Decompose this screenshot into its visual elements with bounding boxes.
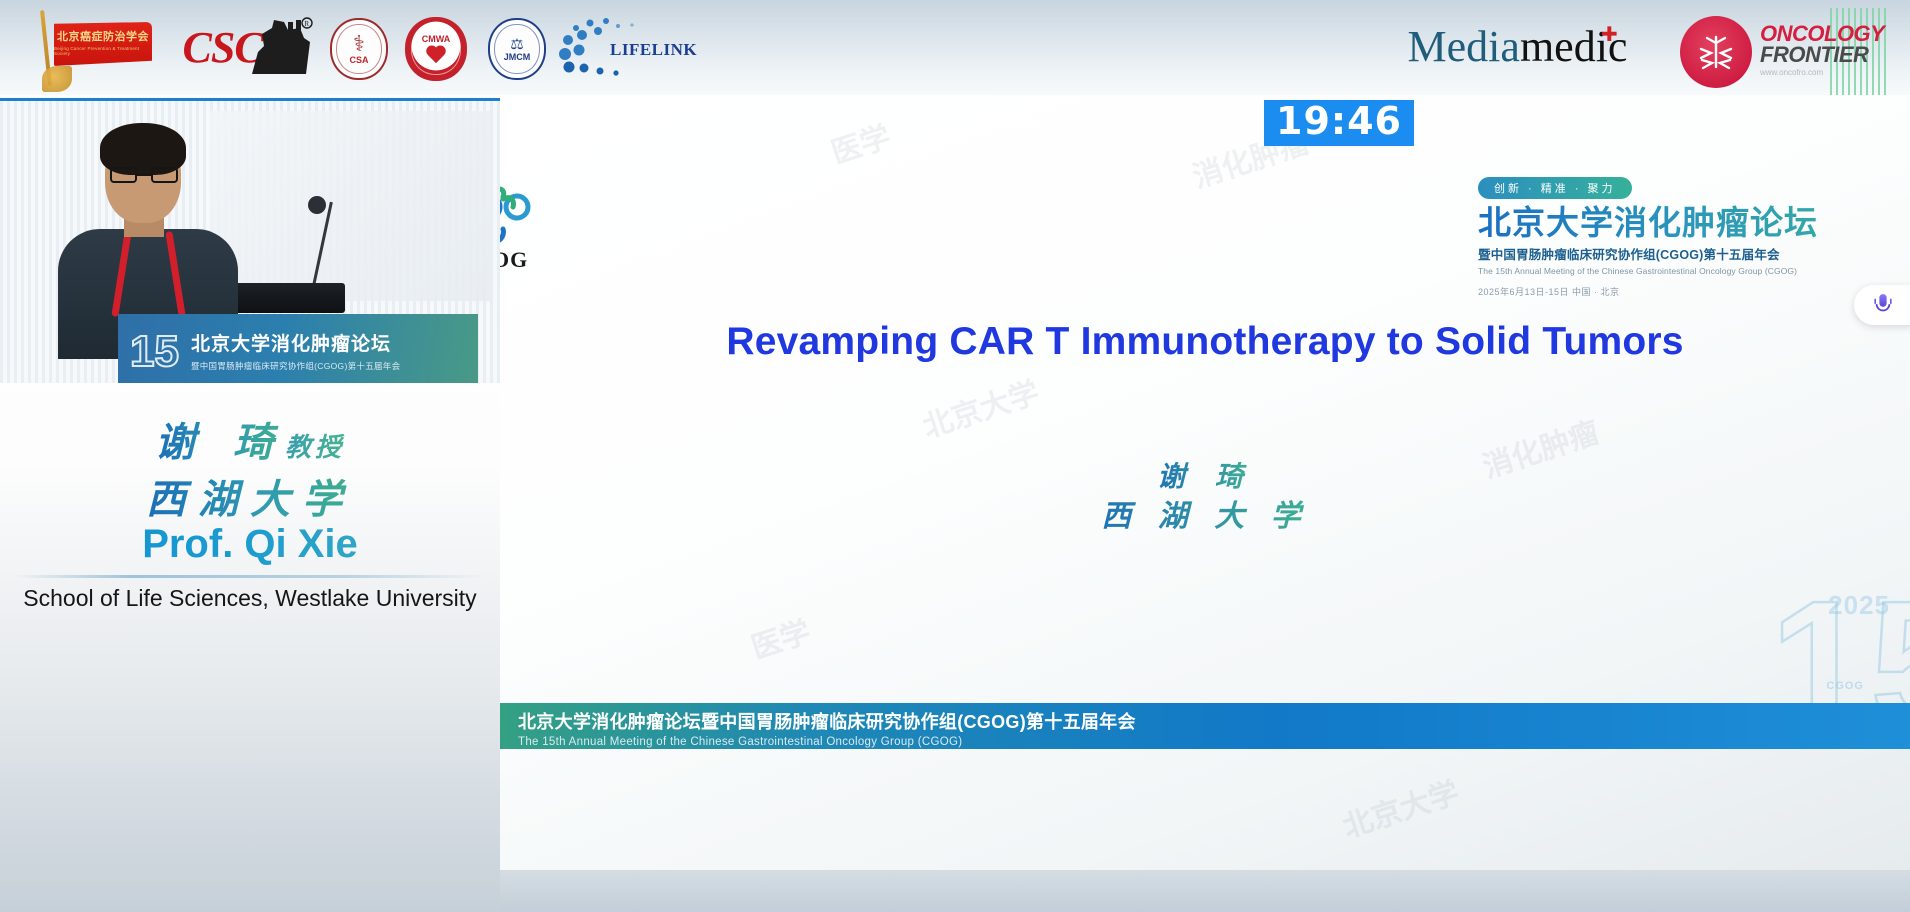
speaker-divider xyxy=(14,575,486,578)
sponsor-header-bar: 北京癌症防治学会 Beijing Cancer Prevention & Tre… xyxy=(0,0,1910,95)
crab-glyph-icon xyxy=(1693,29,1739,75)
cgog-label: CGOG xyxy=(500,247,528,273)
slide-signature-name: 谢 琦 xyxy=(1157,460,1253,493)
cgog-mark-icon xyxy=(500,185,545,247)
podium-subtitle-cn: 暨中国胃肠肿瘤临床研究协作组(CGOG)第十五届年会 xyxy=(191,361,400,371)
csco-logo: CSCO R xyxy=(158,14,318,82)
presentation-slide[interactable]: 医学 消化肿瘤 北京大学 消化肿瘤 医学 北京大学 19:46 CGOG xyxy=(500,95,1910,870)
lifelink-logo: LIFELINK xyxy=(558,16,718,80)
microphone-toggle-button[interactable] xyxy=(1854,285,1910,325)
medical-cross-icon: ✚ xyxy=(1601,22,1618,47)
presentation-slide-area: 医学 消化肿瘤 北京大学 消化肿瘤 医学 北京大学 19:46 CGOG xyxy=(500,95,1910,912)
beijing-cancer-society-flag-logo: 北京癌症防治学会 Beijing Cancer Prevention & Tre… xyxy=(30,8,160,88)
speaker-title-cn: 教授 xyxy=(285,433,345,463)
speaker-affiliation-cn-row: 西湖大学 xyxy=(0,467,500,525)
podium-edition-number: 15 xyxy=(130,330,179,374)
projection-screen xyxy=(210,111,490,301)
slide-signature-affiliation-row: 西 湖 大 学 xyxy=(500,491,1910,535)
speaker-name-en: Prof. Qi Xie xyxy=(0,522,500,567)
flag-banner-icon: 北京癌症防治学会 Beijing Cancer Prevention & Tre… xyxy=(54,22,152,66)
slide-title: Revamping CAR T Immunotherapy to Solid T… xyxy=(500,320,1910,364)
podium-banner: 15 北京大学消化肿瘤论坛 暨中国胃肠肿瘤临床研究协作组(CGOG)第十五届年会 xyxy=(118,314,478,383)
slide-bottom-banner: 北京大学消化肿瘤论坛暨中国胃肠肿瘤临床研究协作组(CGOG)第十五届年会 The… xyxy=(500,703,1910,749)
watermark-text: 北京大学 xyxy=(916,368,1044,447)
lifelink-label: LIFELINK xyxy=(610,40,697,60)
microphone-icon xyxy=(1873,293,1893,317)
speaker-affiliation-cn: 西湖大学 xyxy=(146,477,354,523)
mediamedic-logo: Media medic ✚ xyxy=(1375,16,1660,78)
oncology-frontier-logo: ONCOLOGY FRONTIER www.oncofro.com xyxy=(1680,8,1890,92)
great-wall-lion-icon: R xyxy=(248,16,314,80)
csa-seal-logo: ⚕ CSA xyxy=(330,18,388,80)
flag-en-text: Beijing Cancer Prevention & Treatment So… xyxy=(54,46,152,56)
podium-title-cn: 北京大学消化肿瘤论坛 xyxy=(191,334,391,355)
laptop-icon xyxy=(225,283,345,313)
crab-emblem-icon xyxy=(1680,16,1752,88)
banner-title-cn: 北京大学消化肿瘤论坛暨中国胃肠肿瘤临床研究协作组(CGOG)第十五届年会 xyxy=(518,708,1910,734)
frontier-label: FRONTIER xyxy=(1760,45,1884,66)
watermark-text: 医学 xyxy=(745,607,816,667)
oncology-frontier-url: www.oncofro.com xyxy=(1760,68,1884,77)
watermark-text: 医学 xyxy=(825,112,896,172)
speaker-name-cn: 谢 琦 xyxy=(155,420,285,466)
speaker-info-panel: 15 北京大学消化肿瘤论坛 暨中国胃肠肿瘤临床研究协作组(CGOG)第十五届年会… xyxy=(0,95,500,912)
watermark-year: 2025 xyxy=(1828,590,1890,621)
slide-signature-name-row: 谢 琦 xyxy=(500,455,1910,495)
broadcast-viewer: 北京癌症防治学会 Beijing Cancer Prevention & Tre… xyxy=(0,0,1910,912)
conference-slogan-badge: 创新 · 精准 · 聚力 xyxy=(1478,177,1632,199)
microphone-head-icon xyxy=(308,196,326,214)
speaker-affiliation-en: School of Life Sciences, Westlake Univer… xyxy=(0,585,500,612)
cgog-logo: CGOG xyxy=(500,185,585,295)
mediamedic-part1: Media xyxy=(1408,25,1520,69)
slide-bottom-fade xyxy=(500,870,1910,912)
session-timer: 19:46 xyxy=(1264,100,1414,146)
conference-subtitle-en: The 15th Annual Meeting of the Chinese G… xyxy=(1478,266,1910,276)
speaker-name-cn-row: 谢 琦教授 xyxy=(0,410,500,468)
svg-text:R: R xyxy=(304,20,309,28)
banner-title-en: The 15th Annual Meeting of the Chinese G… xyxy=(518,736,1910,748)
speaker-video-feed[interactable]: 15 北京大学消化肿瘤论坛 暨中国胃肠肿瘤临床研究协作组(CGOG)第十五届年会 xyxy=(0,98,500,383)
conference-subtitle-cn: 暨中国胃肠肿瘤临床研究协作组(CGOG)第十五届年会 xyxy=(1478,244,1910,263)
conference-branding: 创新 · 精准 · 聚力 北京大学消化肿瘤论坛 暨中国胃肠肿瘤临床研究协作组(C… xyxy=(1478,177,1910,298)
conference-date: 2025年6月13日-15日 中国 · 北京 xyxy=(1478,285,1910,298)
flag-ornament-icon xyxy=(42,66,72,92)
watermark-text: 北京大学 xyxy=(1336,768,1464,847)
flag-cn-text: 北京癌症防治学会 xyxy=(57,32,149,43)
watermark-cgog-label: CGOG xyxy=(1826,680,1864,692)
heart-icon xyxy=(425,44,447,64)
slide-signature-affiliation: 西 湖 大 学 xyxy=(1101,499,1308,534)
jmcm-seal-logo: ⚖ JMCM xyxy=(488,18,546,80)
glasses-icon xyxy=(110,167,178,183)
conference-title-cn: 北京大学消化肿瘤论坛 xyxy=(1478,205,1910,241)
cmwa-seal-logo: CMWA xyxy=(405,17,467,81)
